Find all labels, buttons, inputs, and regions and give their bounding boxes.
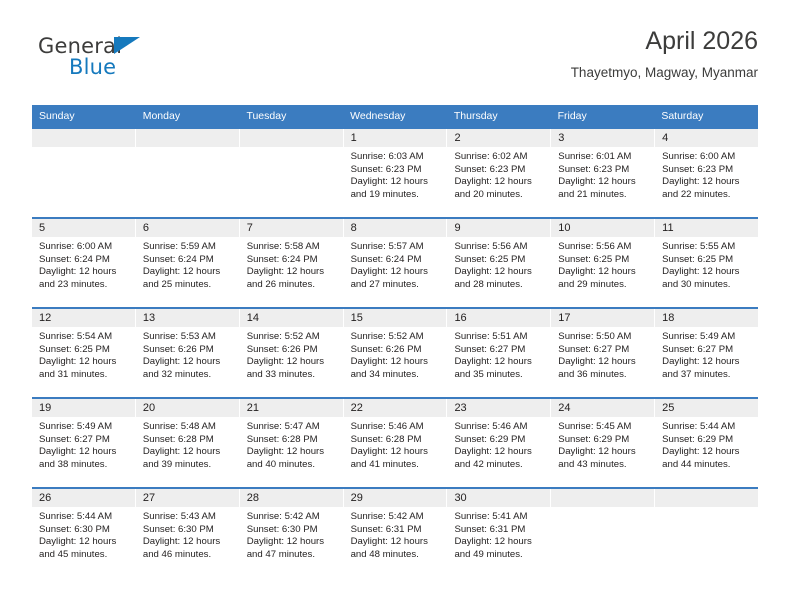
daylight-text-line1: Daylight: 12 hours [39, 446, 129, 459]
day-number: 7 [240, 219, 343, 237]
day-cell[interactable]: 3 Sunrise: 6:01 AM Sunset: 6:23 PM Dayli… [551, 129, 655, 217]
day-details: Sunrise: 5:48 AM Sunset: 6:28 PM Dayligh… [136, 417, 239, 471]
daylight-text-line1: Daylight: 12 hours [143, 356, 233, 369]
sunset-text: Sunset: 6:27 PM [39, 434, 129, 447]
day-number: 30 [447, 489, 550, 507]
day-details: Sunrise: 5:46 AM Sunset: 6:28 PM Dayligh… [344, 417, 447, 471]
sunrise-text: Sunrise: 5:58 AM [247, 241, 337, 254]
day-cell[interactable]: 17 Sunrise: 5:50 AM Sunset: 6:27 PM Dayl… [551, 309, 655, 397]
sunrise-text: Sunrise: 5:56 AM [454, 241, 544, 254]
day-number: 2 [447, 129, 550, 147]
daylight-text-line2: and 36 minutes. [558, 369, 648, 382]
day-number: 18 [655, 309, 758, 327]
sunrise-text: Sunrise: 5:54 AM [39, 331, 129, 344]
weekday-wednesday: Wednesday [343, 105, 447, 127]
sunset-text: Sunset: 6:25 PM [454, 254, 544, 267]
daylight-text-line1: Daylight: 12 hours [454, 446, 544, 459]
daylight-text-line2: and 30 minutes. [662, 279, 752, 292]
daylight-text-line2: and 33 minutes. [247, 369, 337, 382]
sunrise-text: Sunrise: 5:59 AM [143, 241, 233, 254]
day-number [32, 129, 135, 147]
sunrise-text: Sunrise: 5:51 AM [454, 331, 544, 344]
day-number: 20 [136, 399, 239, 417]
day-number: 24 [551, 399, 654, 417]
day-cell[interactable]: 2 Sunrise: 6:02 AM Sunset: 6:23 PM Dayli… [447, 129, 551, 217]
daylight-text-line1: Daylight: 12 hours [454, 266, 544, 279]
sunrise-text: Sunrise: 5:45 AM [558, 421, 648, 434]
week-row: 5 Sunrise: 6:00 AM Sunset: 6:24 PM Dayli… [32, 217, 758, 307]
daylight-text-line2: and 38 minutes. [39, 459, 129, 472]
daylight-text-line2: and 34 minutes. [351, 369, 441, 382]
sunrise-text: Sunrise: 5:46 AM [351, 421, 441, 434]
daylight-text-line1: Daylight: 12 hours [351, 536, 441, 549]
day-number: 10 [551, 219, 654, 237]
daylight-text-line2: and 31 minutes. [39, 369, 129, 382]
day-cell[interactable]: 25 Sunrise: 5:44 AM Sunset: 6:29 PM Dayl… [655, 399, 758, 487]
sunset-text: Sunset: 6:23 PM [662, 164, 752, 177]
day-cell[interactable]: 16 Sunrise: 5:51 AM Sunset: 6:27 PM Dayl… [447, 309, 551, 397]
daylight-text-line1: Daylight: 12 hours [558, 446, 648, 459]
day-details: Sunrise: 5:50 AM Sunset: 6:27 PM Dayligh… [551, 327, 654, 381]
weekday-friday: Friday [551, 105, 655, 127]
daylight-text-line2: and 35 minutes. [454, 369, 544, 382]
sunset-text: Sunset: 6:24 PM [351, 254, 441, 267]
daylight-text-line1: Daylight: 12 hours [351, 446, 441, 459]
daylight-text-line1: Daylight: 12 hours [247, 446, 337, 459]
day-details: Sunrise: 5:56 AM Sunset: 6:25 PM Dayligh… [551, 237, 654, 291]
daylight-text-line1: Daylight: 12 hours [558, 266, 648, 279]
day-details: Sunrise: 5:45 AM Sunset: 6:29 PM Dayligh… [551, 417, 654, 471]
day-cell[interactable]: 15 Sunrise: 5:52 AM Sunset: 6:26 PM Dayl… [344, 309, 448, 397]
sunrise-text: Sunrise: 5:57 AM [351, 241, 441, 254]
title-block: April 2026 Thayetmyo, Magway, Myanmar [571, 26, 758, 81]
sunset-text: Sunset: 6:30 PM [39, 524, 129, 537]
day-details: Sunrise: 6:00 AM Sunset: 6:23 PM Dayligh… [655, 147, 758, 201]
day-cell[interactable] [240, 129, 344, 217]
general-blue-logo[interactable]: General Blue [38, 34, 218, 90]
sunset-text: Sunset: 6:27 PM [662, 344, 752, 357]
weekday-header-row: Sunday Monday Tuesday Wednesday Thursday… [32, 105, 758, 127]
day-details: Sunrise: 5:47 AM Sunset: 6:28 PM Dayligh… [240, 417, 343, 471]
sunset-text: Sunset: 6:31 PM [454, 524, 544, 537]
day-cell[interactable]: 18 Sunrise: 5:49 AM Sunset: 6:27 PM Dayl… [655, 309, 758, 397]
day-number: 11 [655, 219, 758, 237]
daylight-text-line2: and 40 minutes. [247, 459, 337, 472]
day-cell[interactable]: 13 Sunrise: 5:53 AM Sunset: 6:26 PM Dayl… [136, 309, 240, 397]
day-cell[interactable]: 6 Sunrise: 5:59 AM Sunset: 6:24 PM Dayli… [136, 219, 240, 307]
day-cell[interactable]: 5 Sunrise: 6:00 AM Sunset: 6:24 PM Dayli… [32, 219, 136, 307]
day-cell[interactable]: 11 Sunrise: 5:55 AM Sunset: 6:25 PM Dayl… [655, 219, 758, 307]
day-details: Sunrise: 5:59 AM Sunset: 6:24 PM Dayligh… [136, 237, 239, 291]
day-details: Sunrise: 5:52 AM Sunset: 6:26 PM Dayligh… [240, 327, 343, 381]
day-details: Sunrise: 5:44 AM Sunset: 6:29 PM Dayligh… [655, 417, 758, 471]
sunset-text: Sunset: 6:25 PM [39, 344, 129, 357]
daylight-text-line1: Daylight: 12 hours [454, 356, 544, 369]
sunset-text: Sunset: 6:31 PM [351, 524, 441, 537]
sunset-text: Sunset: 6:24 PM [39, 254, 129, 267]
day-number: 4 [655, 129, 758, 147]
sunrise-text: Sunrise: 5:41 AM [454, 511, 544, 524]
sunset-text: Sunset: 6:28 PM [351, 434, 441, 447]
daylight-text-line2: and 26 minutes. [247, 279, 337, 292]
sunset-text: Sunset: 6:27 PM [454, 344, 544, 357]
daylight-text-line1: Daylight: 12 hours [662, 356, 752, 369]
sunset-text: Sunset: 6:29 PM [454, 434, 544, 447]
sunrise-text: Sunrise: 5:52 AM [351, 331, 441, 344]
day-cell[interactable]: 30 Sunrise: 5:41 AM Sunset: 6:31 PM Dayl… [447, 489, 551, 577]
day-cell[interactable] [655, 489, 758, 577]
daylight-text-line2: and 41 minutes. [351, 459, 441, 472]
sunrise-text: Sunrise: 5:50 AM [558, 331, 648, 344]
sunrise-text: Sunrise: 6:03 AM [351, 151, 441, 164]
daylight-text-line1: Daylight: 12 hours [454, 536, 544, 549]
sunset-text: Sunset: 6:28 PM [143, 434, 233, 447]
sunrise-text: Sunrise: 5:44 AM [39, 511, 129, 524]
day-details: Sunrise: 6:03 AM Sunset: 6:23 PM Dayligh… [344, 147, 447, 201]
day-number: 23 [447, 399, 550, 417]
sunrise-text: Sunrise: 5:49 AM [39, 421, 129, 434]
sunrise-text: Sunrise: 5:42 AM [351, 511, 441, 524]
sunrise-text: Sunrise: 5:42 AM [247, 511, 337, 524]
daylight-text-line2: and 32 minutes. [143, 369, 233, 382]
day-details [240, 147, 343, 151]
sunset-text: Sunset: 6:29 PM [662, 434, 752, 447]
daylight-text-line1: Daylight: 12 hours [558, 356, 648, 369]
day-cell[interactable]: 21 Sunrise: 5:47 AM Sunset: 6:28 PM Dayl… [240, 399, 344, 487]
day-details: Sunrise: 6:01 AM Sunset: 6:23 PM Dayligh… [551, 147, 654, 201]
sunrise-text: Sunrise: 5:52 AM [247, 331, 337, 344]
daylight-text-line2: and 22 minutes. [662, 189, 752, 202]
sunrise-text: Sunrise: 6:00 AM [662, 151, 752, 164]
daylight-text-line1: Daylight: 12 hours [143, 266, 233, 279]
daylight-text-line1: Daylight: 12 hours [662, 446, 752, 459]
sunrise-text: Sunrise: 5:53 AM [143, 331, 233, 344]
daylight-text-line2: and 28 minutes. [454, 279, 544, 292]
daylight-text-line1: Daylight: 12 hours [454, 176, 544, 189]
sunrise-text: Sunrise: 5:56 AM [558, 241, 648, 254]
day-details: Sunrise: 5:58 AM Sunset: 6:24 PM Dayligh… [240, 237, 343, 291]
sunset-text: Sunset: 6:23 PM [558, 164, 648, 177]
daylight-text-line1: Daylight: 12 hours [39, 536, 129, 549]
day-details: Sunrise: 6:00 AM Sunset: 6:24 PM Dayligh… [32, 237, 135, 291]
day-details: Sunrise: 5:42 AM Sunset: 6:31 PM Dayligh… [344, 507, 447, 561]
day-cell[interactable]: 23 Sunrise: 5:46 AM Sunset: 6:29 PM Dayl… [447, 399, 551, 487]
sunset-text: Sunset: 6:26 PM [351, 344, 441, 357]
sunset-text: Sunset: 6:29 PM [558, 434, 648, 447]
sunrise-text: Sunrise: 6:02 AM [454, 151, 544, 164]
day-number: 27 [136, 489, 239, 507]
daylight-text-line2: and 21 minutes. [558, 189, 648, 202]
daylight-text-line1: Daylight: 12 hours [143, 536, 233, 549]
daylight-text-line1: Daylight: 12 hours [247, 266, 337, 279]
sunset-text: Sunset: 6:30 PM [247, 524, 337, 537]
day-cell[interactable] [551, 489, 655, 577]
weekday-monday: Monday [136, 105, 240, 127]
day-details: Sunrise: 5:54 AM Sunset: 6:25 PM Dayligh… [32, 327, 135, 381]
day-details [655, 507, 758, 511]
day-cell[interactable] [136, 129, 240, 217]
day-details: Sunrise: 5:41 AM Sunset: 6:31 PM Dayligh… [447, 507, 550, 561]
page-header: General Blue April 2026 Thayetmyo, Magwa… [32, 26, 758, 98]
daylight-text-line2: and 27 minutes. [351, 279, 441, 292]
day-number [655, 489, 758, 507]
day-details: Sunrise: 6:02 AM Sunset: 6:23 PM Dayligh… [447, 147, 550, 201]
day-details: Sunrise: 5:44 AM Sunset: 6:30 PM Dayligh… [32, 507, 135, 561]
day-details [32, 147, 135, 151]
daylight-text-line2: and 49 minutes. [454, 549, 544, 562]
day-number: 21 [240, 399, 343, 417]
day-cell[interactable]: 7 Sunrise: 5:58 AM Sunset: 6:24 PM Dayli… [240, 219, 344, 307]
day-number: 5 [32, 219, 135, 237]
daylight-text-line2: and 44 minutes. [662, 459, 752, 472]
sunrise-text: Sunrise: 5:48 AM [143, 421, 233, 434]
daylight-text-line2: and 19 minutes. [351, 189, 441, 202]
day-number: 15 [344, 309, 447, 327]
sunset-text: Sunset: 6:26 PM [247, 344, 337, 357]
day-cell[interactable]: 26 Sunrise: 5:44 AM Sunset: 6:30 PM Dayl… [32, 489, 136, 577]
day-number: 12 [32, 309, 135, 327]
day-number: 28 [240, 489, 343, 507]
day-number: 17 [551, 309, 654, 327]
day-number: 8 [344, 219, 447, 237]
sunrise-text: Sunrise: 5:44 AM [662, 421, 752, 434]
daylight-text-line2: and 47 minutes. [247, 549, 337, 562]
day-details: Sunrise: 5:56 AM Sunset: 6:25 PM Dayligh… [447, 237, 550, 291]
daylight-text-line1: Daylight: 12 hours [39, 356, 129, 369]
triangle-icon [114, 37, 140, 54]
daylight-text-line1: Daylight: 12 hours [247, 356, 337, 369]
day-number: 6 [136, 219, 239, 237]
day-details: Sunrise: 5:53 AM Sunset: 6:26 PM Dayligh… [136, 327, 239, 381]
daylight-text-line1: Daylight: 12 hours [662, 176, 752, 189]
day-number: 16 [447, 309, 550, 327]
daylight-text-line2: and 46 minutes. [143, 549, 233, 562]
day-number [551, 489, 654, 507]
page-title: April 2026 [571, 26, 758, 56]
day-cell[interactable]: 27 Sunrise: 5:43 AM Sunset: 6:30 PM Dayl… [136, 489, 240, 577]
daylight-text-line1: Daylight: 12 hours [558, 176, 648, 189]
day-details: Sunrise: 5:49 AM Sunset: 6:27 PM Dayligh… [32, 417, 135, 471]
day-cell[interactable]: 1 Sunrise: 6:03 AM Sunset: 6:23 PM Dayli… [344, 129, 448, 217]
sunset-text: Sunset: 6:30 PM [143, 524, 233, 537]
day-cell[interactable]: 20 Sunrise: 5:48 AM Sunset: 6:28 PM Dayl… [136, 399, 240, 487]
week-row: 1 Sunrise: 6:03 AM Sunset: 6:23 PM Dayli… [32, 127, 758, 217]
day-number: 1 [344, 129, 447, 147]
day-cell[interactable]: 12 Sunrise: 5:54 AM Sunset: 6:25 PM Dayl… [32, 309, 136, 397]
daylight-text-line2: and 42 minutes. [454, 459, 544, 472]
page-subtitle: Thayetmyo, Magway, Myanmar [571, 65, 758, 81]
day-cell[interactable]: 4 Sunrise: 6:00 AM Sunset: 6:23 PM Dayli… [655, 129, 758, 217]
day-number: 29 [344, 489, 447, 507]
sunrise-text: Sunrise: 5:47 AM [247, 421, 337, 434]
sunset-text: Sunset: 6:23 PM [454, 164, 544, 177]
daylight-text-line2: and 48 minutes. [351, 549, 441, 562]
daylight-text-line2: and 23 minutes. [39, 279, 129, 292]
daylight-text-line2: and 29 minutes. [558, 279, 648, 292]
daylight-text-line1: Daylight: 12 hours [662, 266, 752, 279]
sunset-text: Sunset: 6:25 PM [558, 254, 648, 267]
daylight-text-line2: and 45 minutes. [39, 549, 129, 562]
day-number: 22 [344, 399, 447, 417]
day-details [136, 147, 239, 151]
day-cell[interactable] [32, 129, 136, 217]
day-details: Sunrise: 5:49 AM Sunset: 6:27 PM Dayligh… [655, 327, 758, 381]
day-details [551, 507, 654, 511]
daylight-text-line2: and 20 minutes. [454, 189, 544, 202]
sunset-text: Sunset: 6:27 PM [558, 344, 648, 357]
day-number: 26 [32, 489, 135, 507]
daylight-text-line2: and 43 minutes. [558, 459, 648, 472]
day-cell[interactable]: 29 Sunrise: 5:42 AM Sunset: 6:31 PM Dayl… [344, 489, 448, 577]
day-details: Sunrise: 5:57 AM Sunset: 6:24 PM Dayligh… [344, 237, 447, 291]
week-row: 26 Sunrise: 5:44 AM Sunset: 6:30 PM Dayl… [32, 487, 758, 577]
sunset-text: Sunset: 6:25 PM [662, 254, 752, 267]
day-number: 9 [447, 219, 550, 237]
sunrise-text: Sunrise: 5:55 AM [662, 241, 752, 254]
day-details: Sunrise: 5:42 AM Sunset: 6:30 PM Dayligh… [240, 507, 343, 561]
day-number: 19 [32, 399, 135, 417]
sunrise-text: Sunrise: 6:00 AM [39, 241, 129, 254]
day-number [136, 129, 239, 147]
daylight-text-line1: Daylight: 12 hours [351, 176, 441, 189]
sunrise-text: Sunrise: 6:01 AM [558, 151, 648, 164]
sunrise-text: Sunrise: 5:49 AM [662, 331, 752, 344]
day-cell[interactable]: 19 Sunrise: 5:49 AM Sunset: 6:27 PM Dayl… [32, 399, 136, 487]
daylight-text-line2: and 25 minutes. [143, 279, 233, 292]
calendar-table: Sunday Monday Tuesday Wednesday Thursday… [32, 105, 758, 577]
daylight-text-line1: Daylight: 12 hours [351, 266, 441, 279]
day-number: 3 [551, 129, 654, 147]
day-details: Sunrise: 5:55 AM Sunset: 6:25 PM Dayligh… [655, 237, 758, 291]
day-cell[interactable]: 22 Sunrise: 5:46 AM Sunset: 6:28 PM Dayl… [344, 399, 448, 487]
logo-text-blue: Blue [69, 55, 116, 79]
day-cell[interactable]: 14 Sunrise: 5:52 AM Sunset: 6:26 PM Dayl… [240, 309, 344, 397]
day-number: 14 [240, 309, 343, 327]
daylight-text-line1: Daylight: 12 hours [247, 536, 337, 549]
day-details: Sunrise: 5:46 AM Sunset: 6:29 PM Dayligh… [447, 417, 550, 471]
day-cell[interactable]: 24 Sunrise: 5:45 AM Sunset: 6:29 PM Dayl… [551, 399, 655, 487]
sunset-text: Sunset: 6:24 PM [143, 254, 233, 267]
calendar-page: General Blue April 2026 Thayetmyo, Magwa… [0, 0, 792, 612]
sunset-text: Sunset: 6:23 PM [351, 164, 441, 177]
day-cell[interactable]: 28 Sunrise: 5:42 AM Sunset: 6:30 PM Dayl… [240, 489, 344, 577]
week-row: 12 Sunrise: 5:54 AM Sunset: 6:25 PM Dayl… [32, 307, 758, 397]
weekday-saturday: Saturday [654, 105, 758, 127]
day-number [240, 129, 343, 147]
weekday-tuesday: Tuesday [239, 105, 343, 127]
daylight-text-line1: Daylight: 12 hours [39, 266, 129, 279]
day-number: 25 [655, 399, 758, 417]
daylight-text-line2: and 39 minutes. [143, 459, 233, 472]
day-details: Sunrise: 5:43 AM Sunset: 6:30 PM Dayligh… [136, 507, 239, 561]
sunset-text: Sunset: 6:26 PM [143, 344, 233, 357]
day-details: Sunrise: 5:52 AM Sunset: 6:26 PM Dayligh… [344, 327, 447, 381]
day-cell[interactable]: 9 Sunrise: 5:56 AM Sunset: 6:25 PM Dayli… [447, 219, 551, 307]
day-details: Sunrise: 5:51 AM Sunset: 6:27 PM Dayligh… [447, 327, 550, 381]
sunset-text: Sunset: 6:28 PM [247, 434, 337, 447]
daylight-text-line2: and 37 minutes. [662, 369, 752, 382]
daylight-text-line1: Daylight: 12 hours [351, 356, 441, 369]
week-row: 19 Sunrise: 5:49 AM Sunset: 6:27 PM Dayl… [32, 397, 758, 487]
day-cell[interactable]: 8 Sunrise: 5:57 AM Sunset: 6:24 PM Dayli… [344, 219, 448, 307]
day-number: 13 [136, 309, 239, 327]
weekday-thursday: Thursday [447, 105, 551, 127]
weekday-sunday: Sunday [32, 105, 136, 127]
sunset-text: Sunset: 6:24 PM [247, 254, 337, 267]
day-cell[interactable]: 10 Sunrise: 5:56 AM Sunset: 6:25 PM Dayl… [551, 219, 655, 307]
sunrise-text: Sunrise: 5:46 AM [454, 421, 544, 434]
daylight-text-line1: Daylight: 12 hours [143, 446, 233, 459]
sunrise-text: Sunrise: 5:43 AM [143, 511, 233, 524]
